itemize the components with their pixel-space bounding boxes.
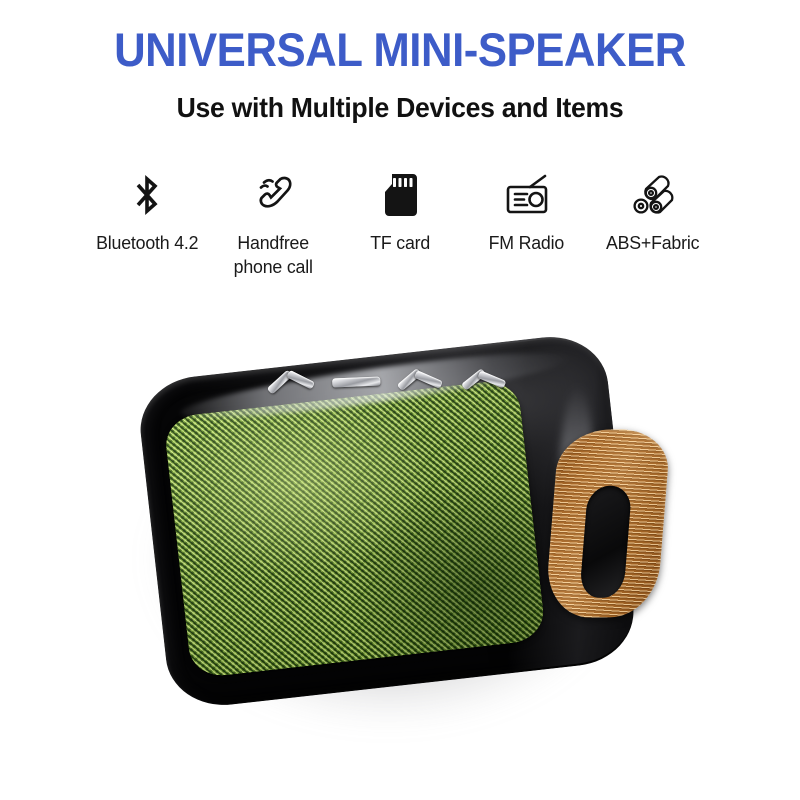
play-pause-button[interactable] bbox=[332, 377, 380, 388]
feature-label: FM Radio bbox=[489, 231, 564, 255]
feature-label: Handfree phone call bbox=[234, 231, 313, 279]
page-title: UNIVERSAL MINI-SPEAKER bbox=[28, 22, 772, 77]
volume-up-button-arm[interactable] bbox=[286, 370, 315, 390]
feature-item-bluetooth: Bluetooth 4.2 bbox=[86, 168, 208, 255]
feature-item-tf-card: TF card bbox=[339, 168, 461, 255]
bluetooth-icon bbox=[130, 168, 164, 222]
product-marketing-page: UNIVERSAL MINI-SPEAKER Use with Multiple… bbox=[0, 0, 800, 800]
page-subtitle: Use with Multiple Devices and Items bbox=[20, 92, 780, 124]
speaker-grille bbox=[163, 379, 546, 679]
feature-item-fm-radio: FM Radio bbox=[466, 168, 588, 255]
feature-item-abs-fabric: ABS+Fabric bbox=[592, 168, 714, 255]
grille-sheen bbox=[163, 379, 546, 679]
feature-list: Bluetooth 4.2 Handfree phone call bbox=[86, 168, 714, 288]
feature-item-handfree: Handfree phone call bbox=[213, 168, 335, 279]
fm-radio-icon bbox=[500, 168, 554, 222]
feature-label: ABS+Fabric bbox=[606, 231, 699, 255]
fabric-rolls-icon bbox=[628, 168, 678, 222]
handfree-phone-icon bbox=[249, 168, 299, 222]
product-image bbox=[0, 318, 800, 788]
feature-label: Bluetooth 4.2 bbox=[96, 231, 198, 255]
feature-label: TF card bbox=[370, 231, 430, 255]
power-button-arm[interactable] bbox=[477, 370, 506, 388]
hand-strap bbox=[542, 424, 674, 623]
next-track-button-arm[interactable] bbox=[414, 370, 443, 389]
tf-card-icon bbox=[380, 168, 420, 222]
speaker-body bbox=[134, 321, 640, 721]
